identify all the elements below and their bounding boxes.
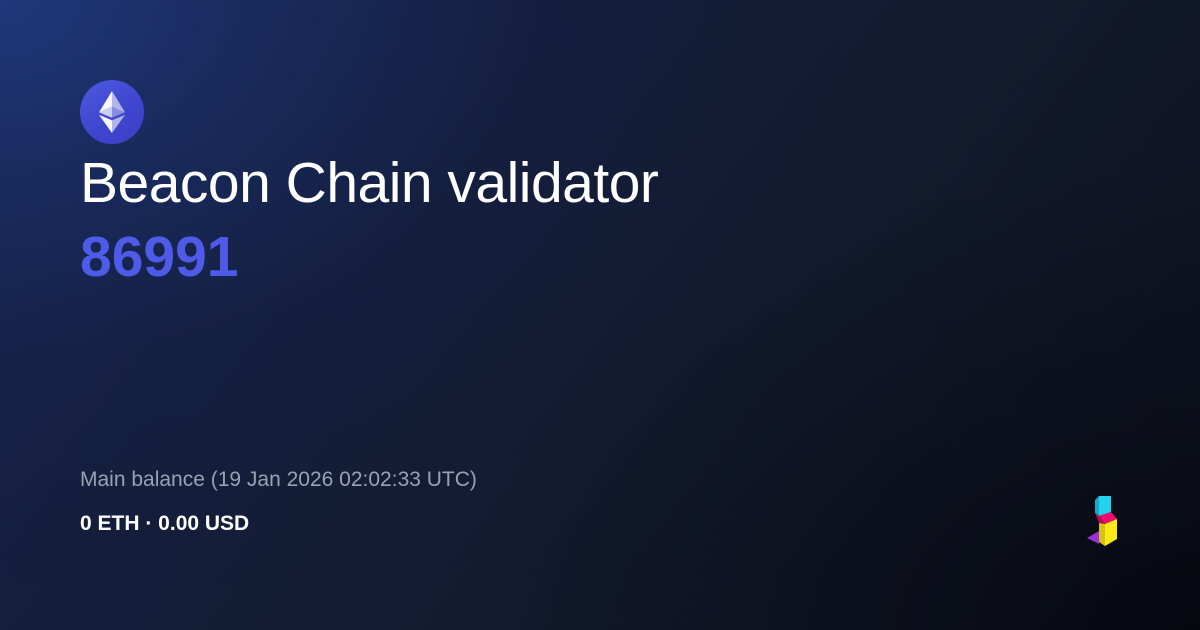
beaconchain-logo — [1085, 494, 1125, 552]
page-title: Beacon Chain validator — [80, 148, 1120, 218]
og-card: Beacon Chain validator 86991 Main balanc… — [0, 0, 1200, 630]
beaconchain-blocks-icon — [1085, 494, 1125, 552]
main-balance-value: 0 ETH · 0.00 USD — [80, 510, 249, 538]
validator-index: 86991 — [80, 222, 239, 292]
main-balance-label: Main balance (19 Jan 2026 02:02:33 UTC) — [80, 466, 477, 494]
ethereum-logo-badge — [80, 80, 144, 144]
ethereum-diamond-icon — [98, 90, 126, 134]
